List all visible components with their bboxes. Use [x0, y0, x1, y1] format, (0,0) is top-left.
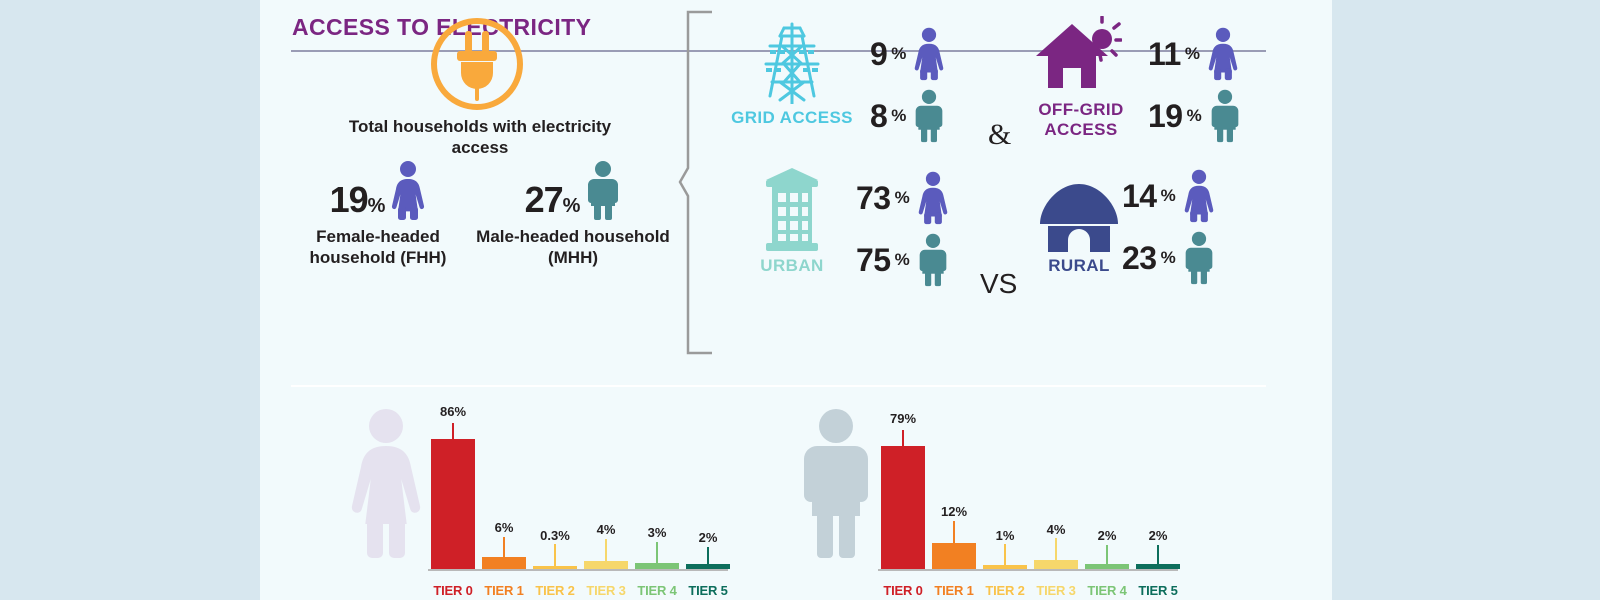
male-silhouette-icon: [800, 406, 872, 558]
bar-value-tier-2: 0.3%: [530, 528, 580, 543]
bar-stem-tier-3: [1055, 538, 1057, 560]
offgrid-male-stat: 19 %: [1148, 88, 1241, 143]
tier-label-5: TIER 5: [1131, 583, 1185, 598]
building-icon: [760, 166, 824, 254]
house-with-sun-icon: [1036, 16, 1122, 96]
bar-value-tier-3: 4%: [1031, 522, 1081, 537]
offgrid-female-symbol: %: [1185, 44, 1200, 64]
bar-tier-5: [686, 564, 730, 569]
male-chart-baseline: [878, 569, 1178, 571]
female-figure-icon: [1183, 168, 1215, 223]
tier-label-1: TIER 1: [927, 583, 981, 598]
grid-female-stat: 9 %: [870, 26, 945, 81]
tier-label-4: TIER 4: [630, 583, 684, 598]
mhh-label: Male-headed household (MHH): [473, 226, 673, 269]
bar-stem-tier-4: [656, 542, 658, 563]
grid-male-symbol: %: [891, 106, 906, 126]
bar-tier-5: [1136, 564, 1180, 569]
ampersand-separator: &: [988, 118, 1011, 152]
bar-tier-0: [881, 446, 925, 569]
female-figure-icon: [1207, 26, 1239, 81]
bar-value-tier-1: 12%: [929, 504, 979, 519]
fhh-stat-row: 19%: [278, 160, 478, 218]
female-chart-plot: 86% 6% 0.3% 4% 3%: [428, 398, 728, 600]
male-figure-icon: [585, 160, 621, 220]
urban-male-symbol: %: [895, 250, 910, 270]
urban-label: URBAN: [728, 256, 856, 276]
electric-plug-icon: [438, 25, 516, 103]
bar-value-tier-2: 1%: [980, 528, 1030, 543]
mhh-percent: 27%: [525, 182, 580, 218]
male-chart-plot: 79% 12% 1% 4% 2%: [878, 398, 1178, 600]
bar-stem-tier-4: [1106, 545, 1108, 564]
bar-value-tier-4: 2%: [1082, 528, 1132, 543]
rural-female-value: 14: [1122, 180, 1157, 212]
bar-value-tier-0: 79%: [878, 411, 928, 426]
bar-tier-2: [983, 565, 1027, 569]
tier-label-1: TIER 1: [477, 583, 531, 598]
mhh-stat-row: 27%: [473, 160, 673, 218]
tier-label-2: TIER 2: [528, 583, 582, 598]
bar-value-tier-4: 3%: [632, 525, 682, 540]
bar-stem-tier-1: [503, 537, 505, 557]
bar-value-tier-0: 86%: [428, 404, 478, 419]
tier-label-0: TIER 0: [876, 583, 930, 598]
female-figure-icon: [913, 26, 945, 81]
bar-stem-tier-2: [1004, 544, 1006, 565]
tier-label-3: TIER 3: [1029, 583, 1083, 598]
bar-stem-tier-3: [605, 539, 607, 561]
bar-stem-tier-2: [554, 544, 556, 566]
urban-male-value: 75: [856, 244, 891, 276]
bar-value-tier-5: 2%: [683, 530, 733, 545]
bar-tier-1: [482, 557, 526, 569]
rural-male-stat: 23 %: [1122, 230, 1215, 285]
rural-male-symbol: %: [1161, 248, 1176, 268]
grid-female-symbol: %: [891, 44, 906, 64]
urban-female-stat: 73 %: [856, 170, 949, 225]
urban-female-value: 73: [856, 182, 891, 214]
bar-tier-1: [932, 543, 976, 569]
grid-male-stat: 8 %: [870, 88, 945, 143]
female-silhouette-icon: [350, 406, 422, 558]
grid-male-value: 8: [870, 100, 887, 132]
infographic-page: ACCESS TO ELECTRICITY Total households w…: [260, 0, 1332, 600]
offgrid-female-value: 11: [1148, 38, 1181, 70]
fhh-percent: 19%: [330, 182, 385, 218]
tier-label-4: TIER 4: [1080, 583, 1134, 598]
bar-tier-4: [1085, 564, 1129, 569]
off-grid-access-label: OFF-GRID ACCESS: [1018, 100, 1144, 139]
bar-tier-3: [1034, 560, 1078, 569]
bar-stem-tier-0: [452, 423, 454, 439]
female-chart-baseline: [428, 569, 728, 571]
section-bracket: [678, 10, 714, 355]
bar-tier-4: [635, 563, 679, 569]
bar-tier-0: [431, 439, 475, 569]
bar-tier-2: [533, 566, 577, 569]
male-figure-icon: [913, 88, 945, 143]
male-figure-icon: [917, 232, 949, 287]
fhh-label: Female-headed household (FHH): [278, 226, 478, 269]
total-households-caption: Total households with electricity access: [320, 116, 640, 159]
offgrid-male-value: 19: [1148, 100, 1183, 132]
rural-female-stat: 14 %: [1122, 168, 1215, 223]
tier-label-5: TIER 5: [681, 583, 735, 598]
grid-access-label: GRID ACCESS: [720, 108, 864, 128]
bar-value-tier-3: 4%: [581, 522, 631, 537]
bar-stem-tier-5: [1157, 545, 1159, 564]
male-figure-icon: [1183, 230, 1215, 285]
hut-icon: [1038, 182, 1120, 254]
bar-value-tier-1: 6%: [479, 520, 529, 535]
bar-stem-tier-5: [707, 547, 709, 564]
bar-tier-3: [584, 561, 628, 569]
offgrid-male-symbol: %: [1187, 106, 1202, 126]
rural-male-value: 23: [1122, 242, 1157, 274]
tier-label-3: TIER 3: [579, 583, 633, 598]
offgrid-female-stat: 11 %: [1148, 26, 1239, 81]
rural-female-symbol: %: [1161, 186, 1176, 206]
male-figure-icon: [1209, 88, 1241, 143]
fhh-stat-group: 19% Female-headed household (FHH): [278, 160, 478, 269]
versus-separator: VS: [980, 268, 1017, 300]
urban-male-stat: 75 %: [856, 232, 949, 287]
female-figure-icon: [917, 170, 949, 225]
grid-female-value: 9: [870, 38, 887, 70]
bar-value-tier-5: 2%: [1133, 528, 1183, 543]
female-figure-icon: [390, 160, 426, 220]
bar-stem-tier-1: [953, 521, 955, 543]
bar-stem-tier-0: [902, 430, 904, 446]
transmission-tower-icon: [758, 18, 826, 104]
tier-label-0: TIER 0: [426, 583, 480, 598]
mhh-stat-group: 27% Male-headed household (MHH): [473, 160, 673, 269]
tier-label-2: TIER 2: [978, 583, 1032, 598]
urban-female-symbol: %: [895, 188, 910, 208]
section-divider: [291, 385, 1266, 387]
